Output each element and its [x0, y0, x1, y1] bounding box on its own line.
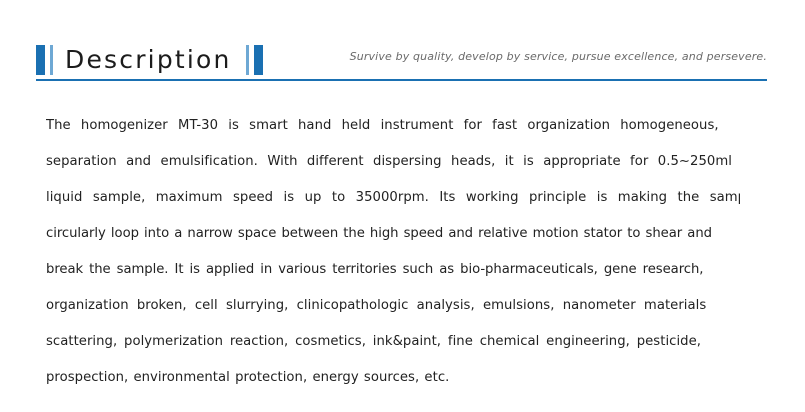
- company-tagline: Survive by quality, develop by service, …: [350, 50, 767, 63]
- description-line: separation and emulsification. With diff…: [46, 144, 740, 180]
- description-page: Description Survive by quality, develop …: [0, 0, 805, 412]
- section-title-group: Description: [36, 40, 263, 80]
- description-text-block: The homogenizer MT-30 is smart hand held…: [46, 108, 740, 396]
- description-line: circularly loop into a narrow space betw…: [46, 216, 740, 252]
- description-line: break the sample. It is applied in vario…: [46, 252, 740, 288]
- right-accent-bar-thin-icon: [246, 45, 249, 75]
- description-line: scattering, polymerization reaction, cos…: [46, 324, 740, 360]
- description-line: organization broken, cell slurrying, cli…: [46, 288, 740, 324]
- description-line: prospection, environmental protection, e…: [46, 360, 740, 396]
- right-accent-bar-thick-icon: [254, 45, 263, 75]
- page-title: Description: [65, 45, 232, 75]
- left-accent-bar-thin-icon: [50, 45, 53, 75]
- description-line: The homogenizer MT-30 is smart hand held…: [46, 108, 740, 144]
- header-divider: [36, 79, 767, 81]
- left-accent-bar-thick-icon: [36, 45, 45, 75]
- section-header: Description Survive by quality, develop …: [36, 40, 769, 80]
- description-line: liquid sample, maximum speed is up to 35…: [46, 180, 740, 216]
